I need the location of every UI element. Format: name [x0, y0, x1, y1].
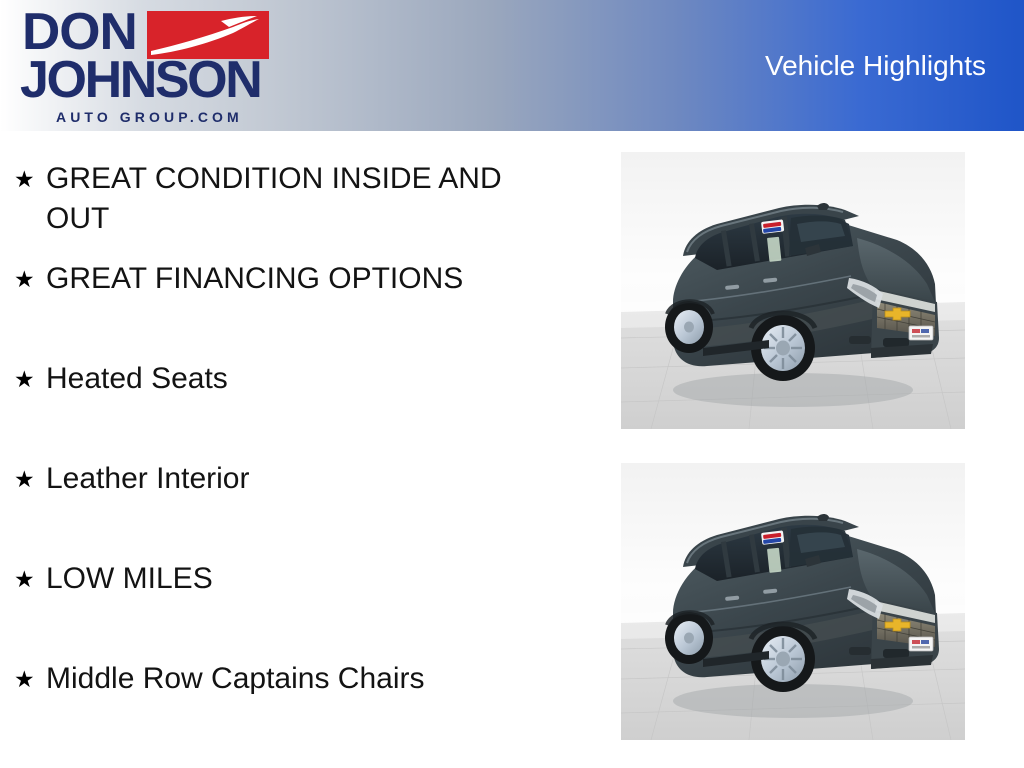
page-title: Vehicle Highlights [765, 50, 986, 82]
list-item: ★ Heated Seats [0, 359, 600, 459]
vehicle-photo-front-quarter-top[interactable] [621, 152, 965, 429]
highlight-label: Leather Interior [46, 459, 516, 499]
star-icon: ★ [14, 359, 46, 399]
list-item: ★ LOW MILES [0, 559, 600, 659]
logo-line-johnson: JOHNSON [20, 54, 260, 106]
star-icon: ★ [14, 259, 46, 299]
highlight-label: Middle Row Captains Chairs [46, 659, 516, 699]
vehicle-highlights-page: DON JOHNSON AUTO GROUP.COM Vehicle Highl… [0, 0, 1024, 768]
highlight-label: Heated Seats [46, 359, 516, 399]
page-header: DON JOHNSON AUTO GROUP.COM Vehicle Highl… [0, 0, 1024, 131]
highlight-label: LOW MILES [46, 559, 516, 599]
logo-tagline: AUTO GROUP.COM [56, 109, 243, 125]
vehicle-highlights-list: ★ GREAT CONDITION INSIDE AND OUT ★ GREAT… [0, 131, 600, 759]
vehicle-photo-front-quarter-bottom[interactable] [621, 463, 965, 740]
list-item: ★ GREAT CONDITION INSIDE AND OUT [0, 159, 600, 259]
star-icon: ★ [14, 159, 46, 199]
star-icon: ★ [14, 459, 46, 499]
page-content: ★ GREAT CONDITION INSIDE AND OUT ★ GREAT… [0, 131, 1024, 768]
dealer-logo[interactable]: DON JOHNSON AUTO GROUP.COM [12, 4, 260, 130]
star-icon: ★ [14, 559, 46, 599]
list-item: ★ Middle Row Captains Chairs [0, 659, 600, 759]
highlight-label: GREAT CONDITION INSIDE AND OUT [46, 159, 516, 239]
swoosh-icon [147, 11, 269, 59]
list-item: ★ Leather Interior [0, 459, 600, 559]
star-icon: ★ [14, 659, 46, 699]
list-item: ★ GREAT FINANCING OPTIONS [0, 259, 600, 359]
highlight-label: GREAT FINANCING OPTIONS [46, 259, 516, 299]
